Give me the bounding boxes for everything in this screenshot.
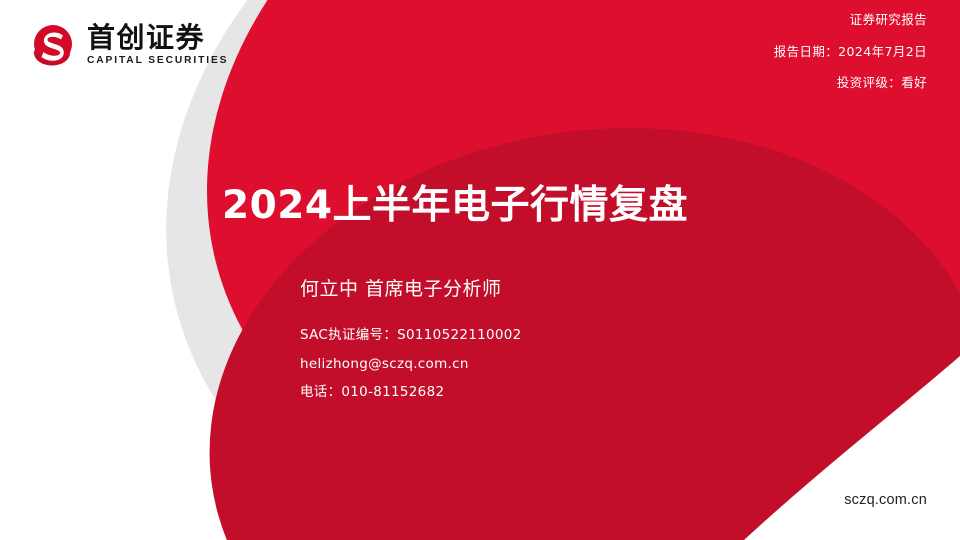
brand-name-en: CAPITAL SECURITIES (87, 56, 228, 66)
report-meta: 证券研究报告 报告日期：2024年7月2日 投资评级：看好 (774, 14, 927, 109)
author-phone: 电话：010-81152682 (300, 386, 522, 400)
contact-block: SAC执证编号：S0110522110002 helizhong@sczq.co… (300, 329, 522, 415)
slide-title: 2024上半年电子行情复盘 (222, 184, 688, 229)
capital-securities-logo-icon (28, 22, 78, 68)
report-date-label: 报告日期：2024年7月2日 (774, 46, 927, 59)
sac-license-number: SAC执证编号：S0110522110002 (300, 329, 522, 343)
title-slide: 首创证券 CAPITAL SECURITIES 证券研究报告 报告日期：2024… (0, 0, 960, 540)
footer-website-url[interactable]: sczq.com.cn (844, 492, 927, 508)
author-line: 何立中 首席电子分析师 (300, 274, 502, 301)
author-email[interactable]: helizhong@sczq.com.cn (300, 358, 522, 372)
brand-wordmark: 首创证券 CAPITAL SECURITIES (87, 24, 228, 66)
brand-name-cn: 首创证券 (87, 24, 228, 52)
brand-logo[interactable]: 首创证券 CAPITAL SECURITIES (28, 22, 228, 68)
investment-rating-label: 投资评级：看好 (774, 77, 927, 90)
report-type-label: 证券研究报告 (774, 14, 927, 27)
